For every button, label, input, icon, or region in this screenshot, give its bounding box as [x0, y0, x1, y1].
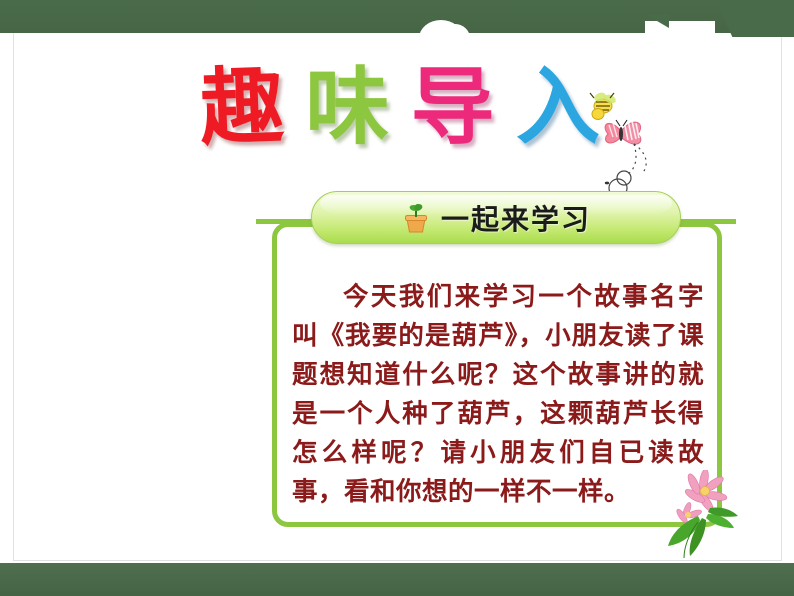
banner-pill: 一起来学习 — [311, 191, 681, 244]
frame-bottom-line — [13, 560, 782, 561]
box-top-stub-left — [256, 219, 316, 224]
title-char-2: 味 — [305, 65, 389, 149]
butterfly-icon — [605, 120, 641, 144]
body-paragraph: 今天我们来学习一个故事名字叫《我要的是葫芦》，小朋友读了课题想知道什么呢？这个故… — [292, 278, 704, 512]
slide-canvas: 趣 味 导 入 — [0, 0, 794, 596]
trail-dots — [605, 144, 646, 197]
sprout-in-pot-icon — [401, 201, 431, 235]
title-char-3: 导 — [411, 65, 495, 149]
frame-right-line — [781, 33, 782, 561]
page-title: 趣 味 导 入 — [200, 52, 600, 162]
top-band-diagonal-gap — [645, 21, 715, 37]
bottom-green-band-shading — [0, 563, 794, 596]
insect-decoration — [576, 82, 686, 202]
title-char-1: 趣 — [199, 64, 286, 151]
banner-label: 一起来学习 — [441, 198, 591, 238]
box-top-stub-right — [676, 219, 736, 224]
bee-icon — [590, 91, 617, 119]
frame-left-line — [13, 33, 14, 561]
flower-decoration — [668, 470, 778, 565]
